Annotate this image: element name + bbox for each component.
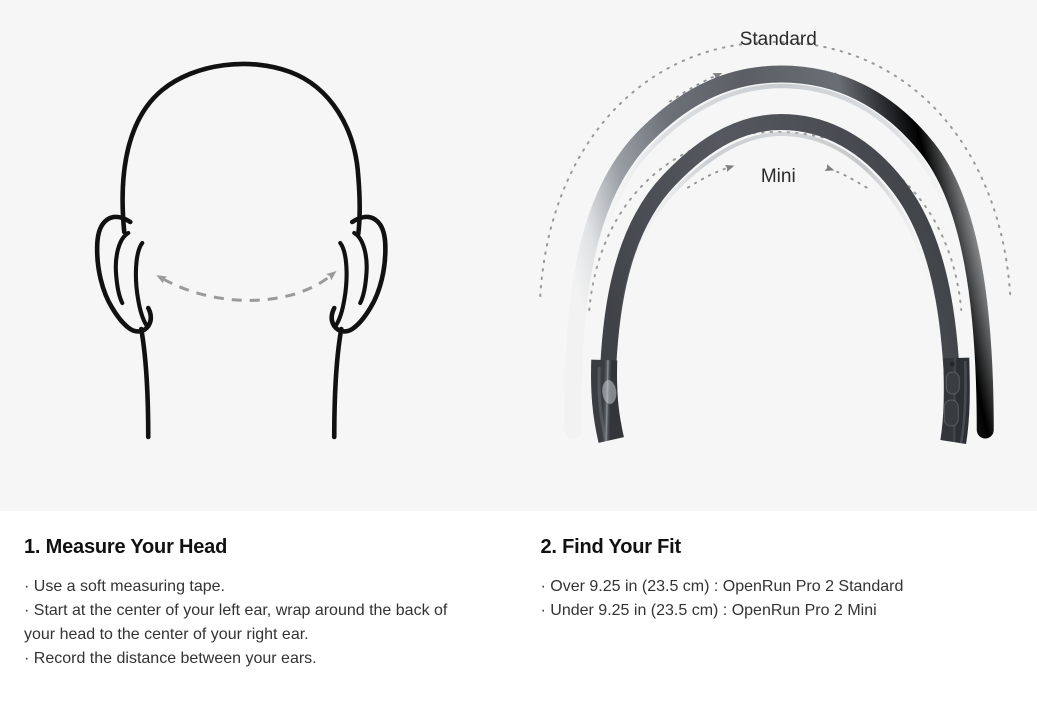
head-diagram-panel [0,0,519,511]
left-ear-lobe [148,308,151,326]
size-guide-page: Standard Mini 1. Measure Your Head Use a… [0,0,1037,719]
right-earpiece [944,358,965,442]
head-outline [123,64,360,234]
headband-comparison-illustration: Standard Mini [519,0,1037,511]
step-2-bullet-list: Over 9.25 in (23.5 cm) : OpenRun Pro 2 S… [541,575,1014,623]
microphone-hole-icon [949,362,954,367]
mini-arrow-right [827,168,867,188]
head-measurement-illustration [0,0,519,511]
list-item: Under 9.25 in (23.5 cm) : OpenRun Pro 2 … [541,599,1014,623]
list-item: Record the distance between your ears. [24,647,479,671]
right-ear-concha [336,243,346,325]
left-ear-antihelix [116,233,128,303]
standard-label: Standard [739,29,816,50]
list-item: Start at the center of your left ear, wr… [24,599,479,647]
right-neck-line [334,329,341,437]
left-ear-concha [136,243,146,325]
list-item: Over 9.25 in (23.5 cm) : OpenRun Pro 2 S… [541,575,1014,599]
step-2-heading: 2. Find Your Fit [541,535,1014,559]
list-item: Use a soft measuring tape. [24,575,479,599]
left-earpiece [599,360,617,440]
step-1-heading: 1. Measure Your Head [24,535,479,559]
right-ear-antihelix [354,233,366,303]
mini-label: Mini [760,166,795,187]
volume-button [944,400,958,426]
step-measure-your-head: 1. Measure Your Head Use a soft measurin… [0,535,519,719]
multifunction-button [946,372,959,394]
ear-to-ear-measure-arrow [163,276,330,300]
instructions-row: 1. Measure Your Head Use a soft measurin… [0,511,1037,719]
illustration-row: Standard Mini [0,0,1037,511]
step-1-bullet-list: Use a soft measuring tape. Start at the … [24,575,479,671]
right-ear-lobe [332,308,335,326]
headband-diagram-panel: Standard Mini [519,0,1037,511]
left-neck-line [141,329,148,437]
step-find-your-fit: 2. Find Your Fit Over 9.25 in (23.5 cm) … [519,535,1037,719]
